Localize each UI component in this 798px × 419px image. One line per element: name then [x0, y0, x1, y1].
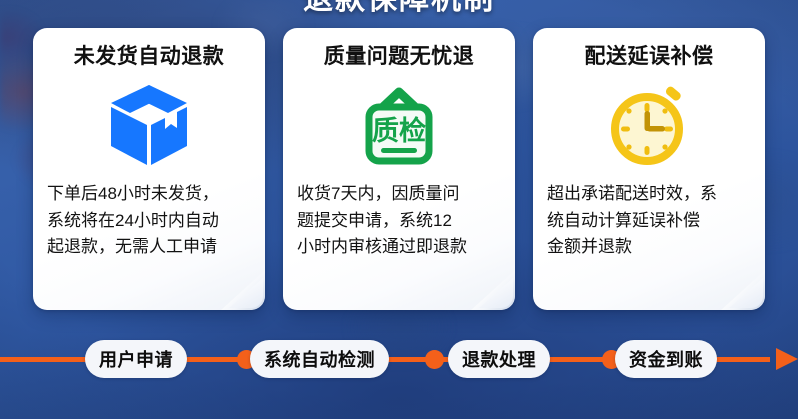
poster-root: 退款保障机制 未发货自动退款 下单后4 [0, 0, 798, 419]
feature-card-list: 未发货自动退款 下单后48小时未发货， 系统将在24小时内自动 [0, 28, 798, 310]
card-body-text: 下单后48小时未发货， 系统将在24小时内自动 起退款，无需人工申请 [47, 181, 251, 260]
card-body-line: 题提交申请，系统12 [297, 208, 501, 234]
timeline-step-label: 资金到账 [629, 346, 703, 372]
card-body-text: 超出承诺配送时效，系 统自动计算延误补偿 金额并退款 [547, 181, 751, 260]
card-body-line: 金额并退款 [547, 234, 751, 260]
package-box-icon [103, 83, 195, 167]
card-body-line: 下单后48小时未发货， [47, 181, 251, 207]
timeline-step-label: 系统自动检测 [264, 346, 375, 372]
card-body-line: 起退款，无需人工申请 [47, 234, 251, 260]
timeline-step-2[interactable]: 系统自动检测 [250, 340, 389, 378]
card-title: 未发货自动退款 [74, 44, 225, 69]
timeline-step-label: 退款处理 [462, 346, 536, 372]
card-body-line: 小时内审核通过即退款 [297, 234, 501, 260]
feature-card-quality-worryfree-return[interactable]: 质量问题无忧退 质检 收货7天内，因质量问 题提交申请，系统12 小时内审核通过… [283, 28, 515, 310]
quality-badge-label: 质检 [372, 115, 426, 146]
card-title: 配送延误补偿 [585, 44, 714, 69]
timeline-step-pill[interactable]: 退款处理 [448, 340, 550, 378]
card-body-text: 收货7天内，因质量问 题提交申请，系统12 小时内审核通过即退款 [297, 181, 501, 260]
card-body-line: 收货7天内，因质量问 [297, 181, 501, 207]
timeline-step-label: 用户申请 [99, 346, 173, 372]
timeline-step-pill[interactable]: 系统自动检测 [250, 340, 389, 378]
card-body-line: 超出承诺配送时效，系 [547, 181, 751, 207]
card-title: 质量问题无忧退 [324, 44, 475, 69]
card-body-line: 统自动计算延误补偿 [547, 208, 751, 234]
timeline-step-4[interactable]: 资金到账 [615, 340, 717, 378]
timeline-step-pill[interactable]: 用户申请 [85, 340, 187, 378]
timeline-dot-2 [425, 350, 444, 369]
timeline-step-3[interactable]: 退款处理 [448, 340, 550, 378]
timeline-step-pill[interactable]: 资金到账 [615, 340, 717, 378]
refund-process-timeline: 用户申请 系统自动检测 退款处理 资金到账 [0, 340, 798, 378]
quality-inspection-badge-icon: 质检 [353, 83, 445, 167]
card-body-line: 系统将在24小时内自动 [47, 208, 251, 234]
feature-card-delivery-delay-compensation[interactable]: 配送延误补偿 [533, 28, 765, 310]
page-title: 退款保障机制 [0, 0, 798, 18]
timeline-step-1[interactable]: 用户申请 [85, 340, 187, 378]
stopwatch-clock-icon [603, 83, 695, 167]
timeline-step-list: 用户申请 系统自动检测 退款处理 资金到账 [0, 340, 798, 378]
feature-card-unshipped-auto-refund[interactable]: 未发货自动退款 下单后48小时未发货， 系统将在24小时内自动 [33, 28, 265, 310]
